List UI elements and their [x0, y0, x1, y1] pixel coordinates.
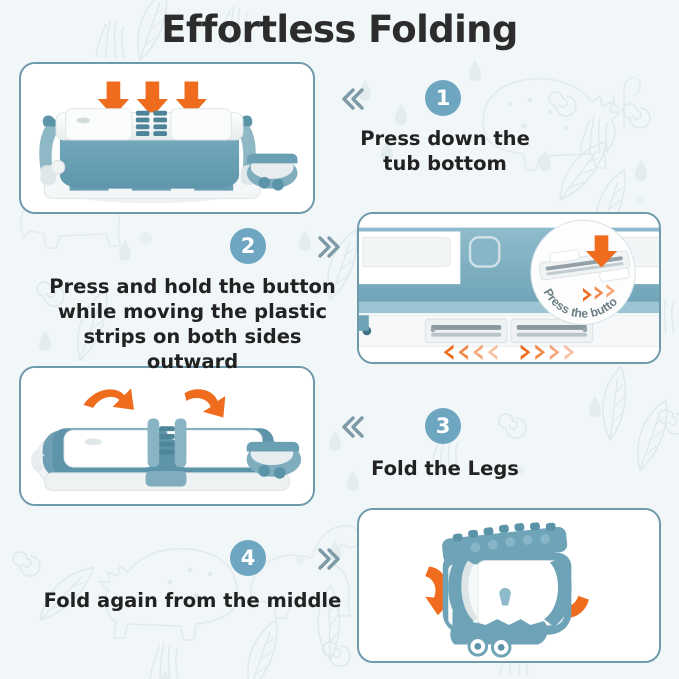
step-4-text-block: 4 Fold again from the middle	[40, 540, 345, 613]
tub-press-down-artwork	[21, 64, 313, 212]
chevron-double-left-icon	[335, 410, 369, 444]
infographic-root: Effortless Folding	[0, 0, 679, 679]
step-1-label: Press down the tub bottom	[330, 126, 560, 176]
page-title: Effortless Folding	[0, 8, 679, 52]
step-2-header: 2	[40, 228, 345, 268]
chevron-double-right-icon	[312, 230, 346, 264]
step-1-header: 1	[330, 80, 560, 120]
step-3-label: Fold the Legs	[330, 456, 560, 481]
press-the-button-artwork: Press the button	[359, 214, 659, 362]
step-4-badge: 4	[230, 540, 266, 576]
step-3-illustration-panel	[19, 366, 315, 506]
step-4-label: Fold again from the middle	[40, 588, 345, 613]
step-1-illustration-panel	[19, 62, 315, 214]
fold-from-middle-artwork	[359, 510, 659, 661]
step-3-header: 3	[330, 408, 560, 448]
step-1-text-block: 1 Press down the tub bottom	[330, 80, 560, 176]
step-2-illustration-panel: Press the button	[357, 212, 661, 364]
step-2-text-block: 2 Press and hold the button while moving…	[40, 228, 345, 374]
step-3-badge: 3	[425, 408, 461, 444]
step-4-header: 4	[40, 540, 345, 580]
chevron-double-right-icon	[312, 542, 346, 576]
chevron-double-left-icon	[335, 82, 369, 116]
step-4-illustration-panel	[357, 508, 661, 663]
fold-the-legs-artwork	[21, 368, 313, 504]
step-1-badge: 1	[425, 80, 461, 116]
step-2-label: Press and hold the button while moving t…	[40, 274, 345, 374]
step-3-text-block: 3 Fold the Legs	[330, 408, 560, 481]
step-2-badge: 2	[230, 228, 266, 264]
